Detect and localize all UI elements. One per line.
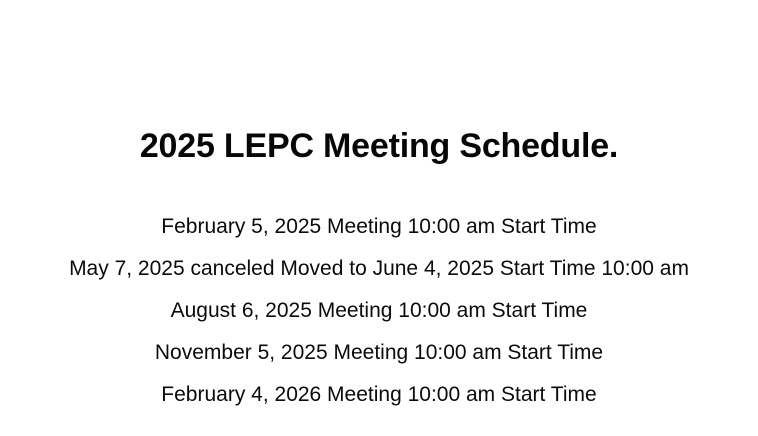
page-title: 2025 LEPC Meeting Schedule.: [0, 124, 758, 168]
list-item: November 5, 2025 Meeting 10:00 am Start …: [0, 332, 758, 374]
list-item: February 5, 2025 Meeting 10:00 am Start …: [0, 206, 758, 248]
list-item: May 7, 2025 canceled Moved to June 4, 20…: [0, 248, 758, 290]
document-page: 2025 LEPC Meeting Schedule. February 5, …: [0, 0, 758, 436]
meeting-schedule-list: February 5, 2025 Meeting 10:00 am Start …: [0, 206, 758, 416]
list-item: February 4, 2026 Meeting 10:00 am Start …: [0, 374, 758, 416]
list-item: August 6, 2025 Meeting 10:00 am Start Ti…: [0, 290, 758, 332]
